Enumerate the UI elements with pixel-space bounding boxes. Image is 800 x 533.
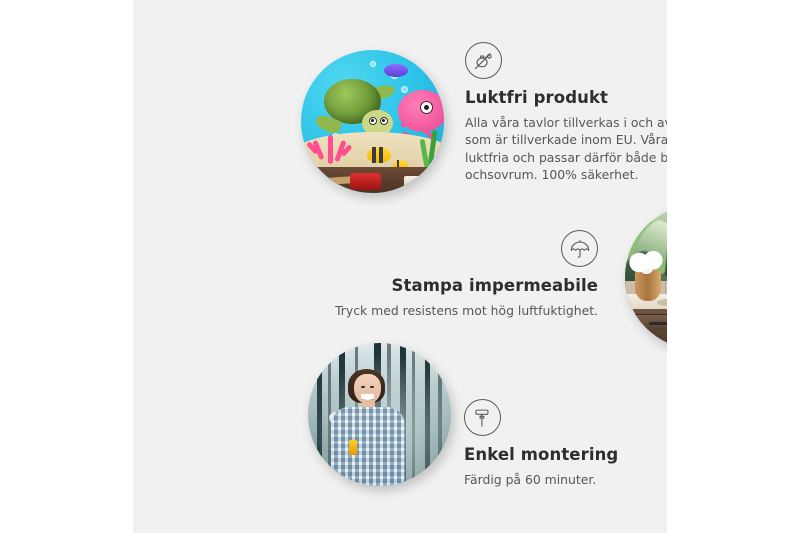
vase xyxy=(635,270,661,302)
bubble-icon xyxy=(401,86,408,93)
feature-description: Alla våra tavlor tillverkas i och av pro… xyxy=(465,114,667,184)
feature-title: Luktfri produkt xyxy=(465,88,667,109)
botanical-wallpaper xyxy=(625,205,667,349)
eye xyxy=(370,386,374,388)
underwater-artwork xyxy=(301,50,444,193)
woman-plaid-shirt xyxy=(331,407,405,486)
shell xyxy=(404,176,427,189)
promo-banner: Luktfri produkt Alla våra tavlor tillver… xyxy=(0,0,800,533)
content-panel: Luktfri produkt Alla våra tavlor tillver… xyxy=(133,0,667,533)
drawer-handle xyxy=(649,322,667,325)
treasure-chest xyxy=(350,173,381,190)
paint-tool xyxy=(349,440,356,454)
feature-odour-free: Luktfri produkt Alla våra tavlor tillver… xyxy=(465,42,667,184)
feature-easy-mounting: Enkel montering Färdig på 60 minuter. xyxy=(464,399,667,488)
coral xyxy=(310,127,353,164)
forest-artwork xyxy=(308,343,451,486)
photo-bathroom-botanical xyxy=(625,205,667,349)
octopus-eye xyxy=(420,101,433,114)
paint-roller-icon xyxy=(464,399,501,436)
umbrella-icon xyxy=(561,230,598,267)
eye xyxy=(361,386,365,388)
feature-title: Stampa impermeabile xyxy=(318,276,598,297)
feature-waterproof-print: Stampa impermeabile Tryck med resistens … xyxy=(318,230,598,319)
flowers xyxy=(628,251,665,274)
vanity-cabinet xyxy=(628,309,667,349)
feature-title: Enkel montering xyxy=(464,445,667,466)
fish-yellow xyxy=(367,147,391,163)
feature-description: Färdig på 60 minuter. xyxy=(464,471,667,489)
no-fragrance-icon xyxy=(465,42,502,79)
photo-underwater-scene xyxy=(301,50,444,193)
bubble-icon xyxy=(370,61,376,67)
feature-description: Tryck med resistens mot hög luftfuktighe… xyxy=(318,302,598,320)
photo-forest-installer xyxy=(308,343,451,486)
fish-purple xyxy=(384,64,408,77)
